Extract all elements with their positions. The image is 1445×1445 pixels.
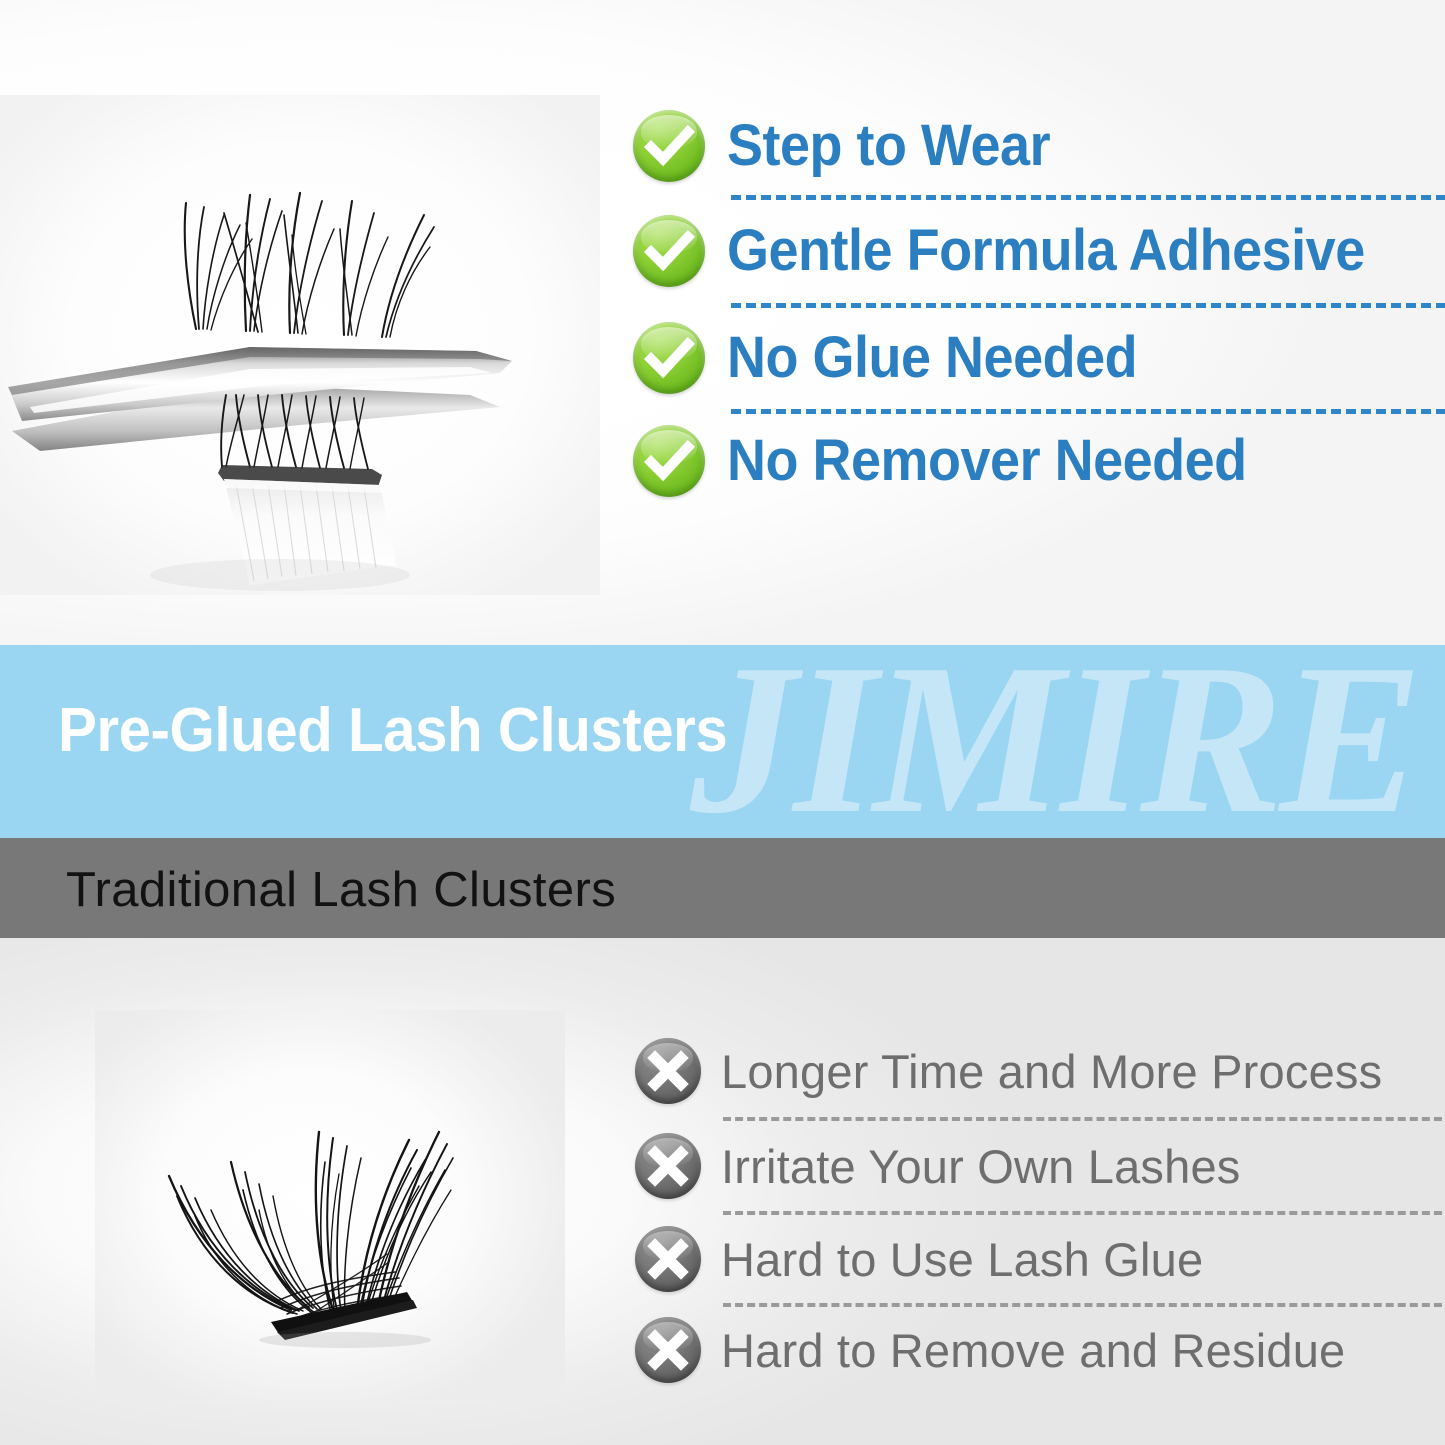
drawback-label: Hard to Remove and Residue (721, 1327, 1345, 1374)
benefit-label: No Glue Needed (727, 329, 1137, 387)
drawback-label: Irritate Your Own Lashes (721, 1143, 1240, 1190)
drawback-row: Hard to Remove and Residue (635, 1305, 1345, 1395)
traditional-title: Traditional Lash Clusters (66, 866, 616, 915)
green-check-icon (633, 215, 705, 287)
gray-x-icon (635, 1226, 701, 1292)
benefits-list: Step to Wear Gentle Formula Adhesive (633, 95, 1345, 535)
benefit-label: Gentle Formula Adhesive (727, 222, 1365, 280)
drawback-label: Hard to Use Lash Glue (721, 1236, 1203, 1283)
drawback-label: Longer Time and More Process (721, 1048, 1382, 1095)
green-check-icon (633, 322, 705, 394)
jimire-brand-watermark: JIMIRE (690, 645, 1419, 838)
green-check-icon (633, 110, 705, 182)
drawbacks-list: Longer Time and More Process Irritate Yo… (635, 1023, 1345, 1393)
gray-x-icon (635, 1317, 701, 1383)
benefit-row: Step to Wear (633, 95, 1345, 197)
banner-title: Pre-Glued Lash Clusters (58, 700, 727, 762)
benefit-row: Gentle Formula Adhesive (633, 197, 1345, 305)
pre-glued-lash-photo (0, 95, 600, 595)
benefit-row: No Remover Needed (633, 411, 1345, 511)
gray-x-icon (635, 1038, 701, 1104)
benefit-label: Step to Wear (727, 117, 1050, 175)
drawback-row: Longer Time and More Process (635, 1023, 1345, 1119)
green-check-icon (633, 425, 705, 497)
benefit-row: No Glue Needed (633, 305, 1345, 411)
traditional-lash-photo (95, 1010, 565, 1400)
gray-x-icon (635, 1133, 701, 1199)
drawback-row: Irritate Your Own Lashes (635, 1119, 1345, 1213)
drawback-row: Hard to Use Lash Glue (635, 1213, 1345, 1305)
benefit-label: No Remover Needed (727, 432, 1247, 490)
comparison-infographic: Step to Wear Gentle Formula Adhesive (0, 0, 1445, 1445)
pre-glued-section: Step to Wear Gentle Formula Adhesive (0, 0, 1445, 645)
